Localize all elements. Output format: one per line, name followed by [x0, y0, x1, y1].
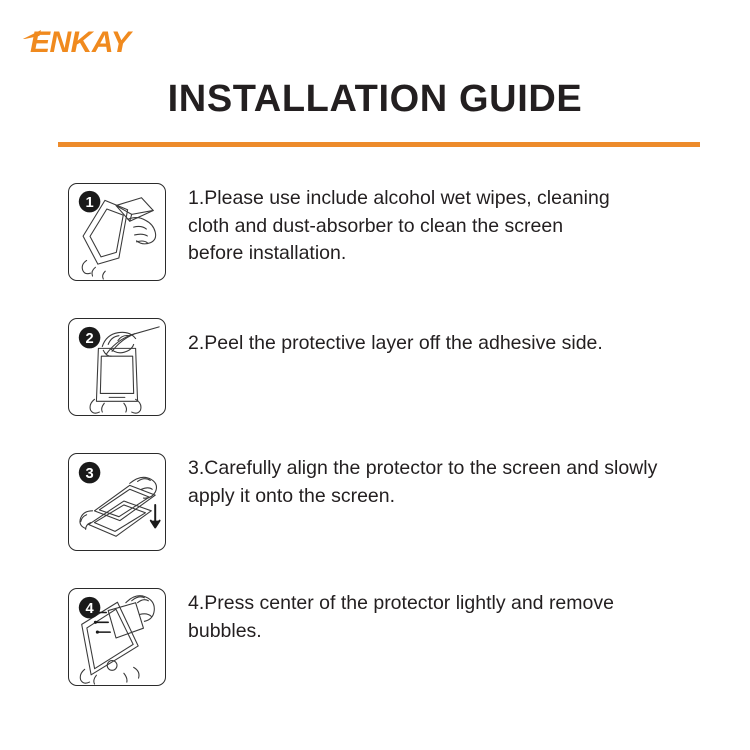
step-4-text: 4.Press center of the protector lightly …: [188, 590, 688, 645]
list-item: 2 2.Peel the protective layer off the ad…: [0, 310, 750, 445]
list-item: 3 3.Carefully align the protector to the…: [0, 445, 750, 580]
brand-mark: ENKAY: [30, 28, 130, 58]
step-3-illustration: 3: [68, 453, 166, 551]
step-1-text: 1.Please use include alcohol wet wipes, …: [188, 185, 688, 268]
step-number-label: 1: [85, 195, 93, 211]
brand-logo: ENKAY: [30, 26, 130, 60]
steps-list: 1 1.Please use include alcohol wet wipes…: [0, 175, 750, 715]
step-number-label: 2: [85, 331, 93, 347]
step-4-illustration: 4: [68, 588, 166, 686]
page-title: INSTALLATION GUIDE: [0, 78, 750, 121]
list-item: 4 4.Press center of the protector lightl…: [0, 580, 750, 715]
list-item: 1 1.Please use include alcohol wet wipes…: [0, 175, 750, 310]
step-2-text: 2.Peel the protective layer off the adhe…: [188, 330, 688, 358]
step-number-label: 4: [85, 601, 94, 617]
step-number-label: 3: [85, 466, 93, 482]
title-divider: [58, 142, 700, 147]
step-1-illustration: 1: [68, 183, 166, 281]
brand-name: ENKAY: [30, 28, 130, 58]
step-3-text: 3.Carefully align the protector to the s…: [188, 455, 688, 510]
step-2-illustration: 2: [68, 318, 166, 416]
